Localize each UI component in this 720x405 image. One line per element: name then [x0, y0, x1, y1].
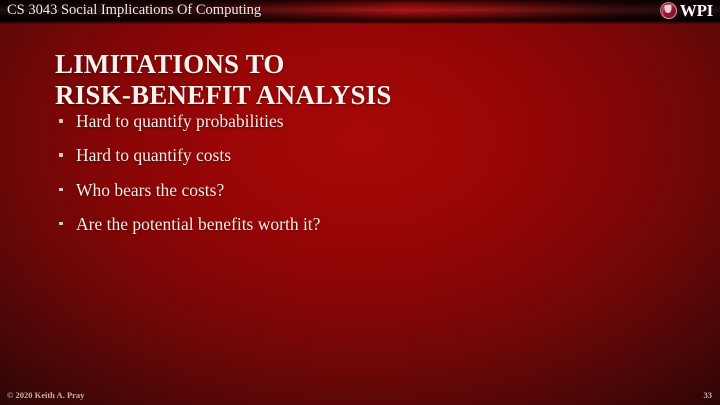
page-title: LIMITATIONS TO RISK-BENEFIT ANALYSIS [55, 49, 655, 111]
list-item: Hard to quantify probabilities [57, 108, 657, 142]
list-item-label: Are the potential benefits worth it? [76, 214, 320, 234]
list-item: Hard to quantify costs [57, 142, 657, 176]
wpi-wordmark: WPI [680, 2, 713, 19]
course-title: CS 3043 Social Implications Of Computing [7, 1, 261, 20]
bullet-marker-icon [59, 188, 63, 192]
wpi-logo: WPI [660, 1, 713, 20]
bullet-marker-icon [59, 153, 63, 157]
list-item-label: Hard to quantify costs [76, 145, 231, 165]
footer-copyright: © 2020 Keith A. Pray [7, 390, 84, 401]
bullet-marker-icon [59, 119, 63, 123]
wpi-seal-icon [660, 2, 677, 19]
list-item: Are the potential benefits worth it? [57, 211, 657, 245]
header-separator [0, 21, 720, 24]
list-item-label: Hard to quantify probabilities [76, 111, 284, 131]
presentation-slide: CS 3043 Social Implications Of Computing… [0, 0, 720, 405]
footer-page-number: 33 [704, 390, 713, 401]
list-item-label: Who bears the costs? [76, 180, 224, 200]
bullet-marker-icon [59, 222, 63, 226]
bullet-list: Hard to quantify probabilities Hard to q… [57, 108, 657, 245]
page-title-line-1: LIMITATIONS TO [55, 49, 655, 80]
list-item: Who bears the costs? [57, 177, 657, 211]
page-title-line-2: RISK-BENEFIT ANALYSIS [55, 80, 655, 111]
